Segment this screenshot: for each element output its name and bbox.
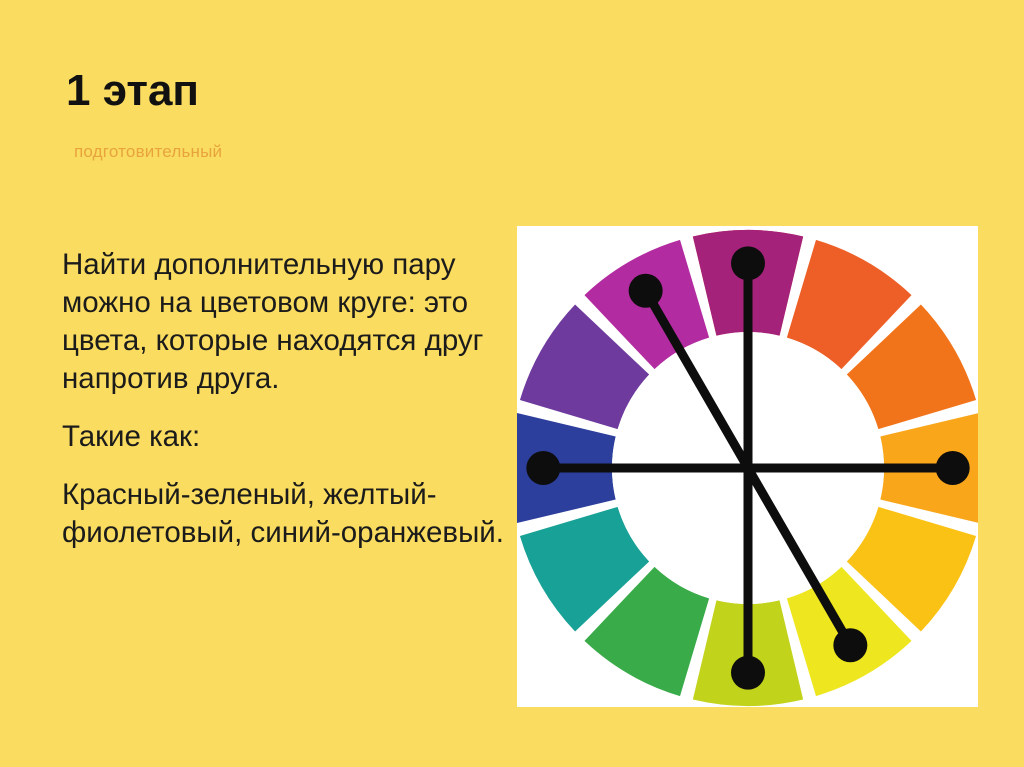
pair-marker-dot-red-green-pair-a bbox=[731, 246, 765, 280]
body-paragraph-3: Красный-зеленый, желтый-фиолетовый, сини… bbox=[62, 476, 514, 552]
slide-root: 1 этап подготовительный Найти дополнител… bbox=[0, 0, 1024, 767]
pair-marker-dot-yellow-violet-pair-a bbox=[833, 628, 867, 662]
page-title: 1 этап bbox=[66, 68, 199, 114]
body-paragraph-1: Найти дополнительную пару можно на цвето… bbox=[62, 246, 514, 398]
body-paragraph-2: Такие как: bbox=[62, 418, 514, 456]
pair-marker-dot-red-green-pair-b bbox=[731, 656, 765, 690]
color-wheel-diagram bbox=[517, 226, 978, 707]
pair-marker-dot-yellow-violet-pair-b bbox=[629, 274, 663, 308]
page-subtitle: подготовительный bbox=[74, 142, 222, 162]
pair-marker-dot-blue-orange-pair-b bbox=[936, 451, 970, 485]
pair-marker-dot-blue-orange-pair-a bbox=[526, 451, 560, 485]
body-text-column: Найти дополнительную пару можно на цвето… bbox=[62, 246, 514, 552]
illustration-panel bbox=[517, 226, 978, 707]
complementary-pair-lines bbox=[526, 246, 969, 689]
